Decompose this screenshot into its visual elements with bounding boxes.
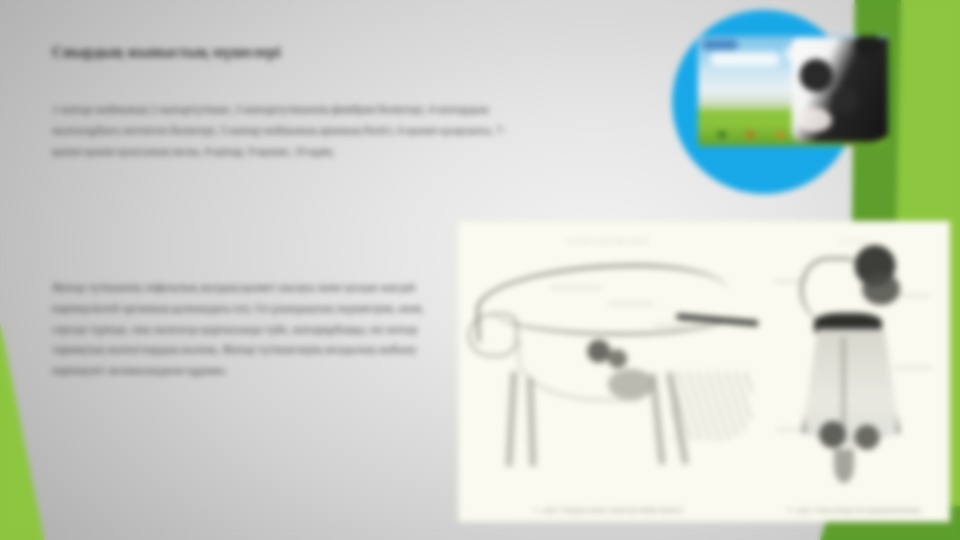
label-leader-line	[654, 325, 712, 326]
presentation-slide: Сиырдың жыныстық мүшелері 1-жатыр мойнын…	[0, 0, 960, 540]
pelvis-outline	[468, 313, 518, 357]
anatomy-figure-panel: А Б В Г Д Е Ж З И К 3 - сурет. Сиырдың ж…	[458, 221, 950, 522]
figure-caption: 3 - сурет. Сиырдың жыныс мүшелері (бүйір…	[458, 507, 758, 514]
cow-photo-container	[672, 8, 902, 198]
flower-icon	[746, 131, 754, 138]
sky-cloud-icon	[702, 40, 738, 50]
label-leader-line	[776, 429, 810, 430]
label-leader-line	[774, 281, 808, 282]
body-paragraph-1: 1-жатыр мойнының 2-жатыртүтікше, 3-жатыр…	[52, 100, 522, 162]
lateral-reproductive-organs-figure: А Б В Г Д Е Ж З И К 3 - сурет. Сиырдың ж…	[458, 221, 758, 522]
flower-icon	[776, 131, 784, 138]
label-leader-line	[894, 367, 932, 368]
vulva-outline	[834, 449, 854, 483]
green-wedge-left	[0, 300, 44, 540]
sky-cloud-icon	[710, 52, 780, 66]
leg-outline	[649, 373, 666, 465]
leg-outline	[526, 377, 536, 467]
figure-caption: 4 - сурет. Сиыр жатыры мен жұмыртқалықта…	[758, 507, 950, 514]
cow-in-pasture-photo	[698, 36, 888, 146]
slide-title: Сиырдың жыныстық мүшелері	[52, 44, 412, 63]
udder-outline	[608, 369, 654, 399]
figure-header-labels: А Б В Г Д Е Ж З И К	[458, 239, 758, 245]
leg-outline	[505, 371, 517, 467]
label-leader-line	[550, 287, 602, 288]
holstein-cow	[792, 38, 888, 142]
ovary-left	[862, 273, 900, 305]
cow-muzzle	[798, 108, 832, 132]
ligament-fan	[672, 371, 752, 441]
flower-icon	[718, 131, 726, 138]
label-leader-line	[608, 303, 654, 304]
ovary-cluster	[578, 335, 630, 371]
figure-header-labels: 1 2 3 4	[758, 239, 950, 245]
uterus-dorsal-view-figure: 1 2 3 4 4 - сурет. Сиыр жатыры мен жұмыр…	[758, 221, 950, 522]
label-leader-line	[898, 295, 930, 296]
cow-ear	[854, 36, 880, 56]
body-paragraph-2: Жатыр түтікшенің эпфизалық жолдың қызмет…	[52, 278, 424, 382]
